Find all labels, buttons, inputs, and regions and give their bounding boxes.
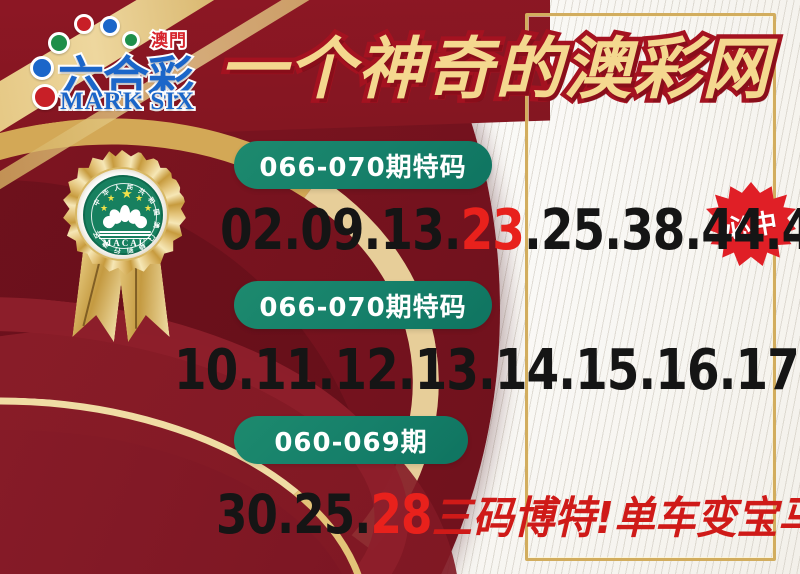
number-cell-highlighted: 28 (371, 483, 432, 546)
number-cell: 30 (216, 483, 277, 546)
number-cell: 38 (621, 198, 684, 263)
number-cell: 25 (293, 483, 354, 546)
number-cell: 11 (254, 338, 317, 403)
period-label-2[interactable]: 066-070期特码 (234, 281, 492, 329)
seal-macau-label: MACAU (85, 238, 165, 248)
number-cell-highlighted: 23 (461, 198, 524, 263)
number-cell: 15 (575, 338, 638, 403)
number-cell: 44 (701, 198, 764, 263)
logo-english-name: MARK SIX (60, 88, 195, 116)
lottery-ball (30, 56, 54, 80)
period-label-3[interactable]: 060-069期 (234, 416, 468, 464)
number-row-2: 10.11.12.13.14.15.16.17.18.19 (174, 338, 800, 403)
number-row-1: 02.09.13.23.25.38.44.45 (220, 198, 800, 263)
medal-inner-disc: ★ ★ ★ ★ ★ 中华人民共和国澳门特别行政区 MACAU (75, 167, 169, 261)
lottery-ball (100, 16, 120, 36)
number-cell: 10 (174, 338, 237, 403)
page-title: 一个神奇的澳彩网 (210, 22, 780, 117)
number-cell: 02 (220, 198, 283, 263)
period-label-1[interactable]: 066-070期特码 (234, 141, 492, 189)
number-cell: 45 (781, 198, 800, 263)
lottery-ball (32, 84, 58, 110)
number-row-3: 30.25.28三码博特!单车变宝马! (216, 482, 800, 546)
number-cell: 09 (300, 198, 363, 263)
number-cell: 13 (380, 198, 443, 263)
lottery-banner: 澳門 六合彩 MARK SIX 一个神奇的澳彩网 ★ ★ ★ ★ ★ (0, 0, 800, 574)
number-cell: 16 (655, 338, 718, 403)
mark-six-logo: 澳門 六合彩 MARK SIX (22, 12, 212, 117)
number-cell: 13 (415, 338, 478, 403)
number-cell: 12 (334, 338, 397, 403)
number-cell: 14 (495, 338, 558, 403)
promo-slogan: 三码博特!单车变宝马! (432, 493, 800, 544)
number-cell: 25 (541, 198, 604, 263)
number-cell: 17 (735, 338, 798, 403)
macau-seal-medal: ★ ★ ★ ★ ★ 中华人民共和国澳门特别行政区 MACAU (55, 150, 195, 345)
lottery-ball (74, 14, 94, 34)
macau-emblem-icon: ★ ★ ★ ★ ★ 中华人民共和国澳门特别行政区 MACAU (83, 175, 163, 255)
